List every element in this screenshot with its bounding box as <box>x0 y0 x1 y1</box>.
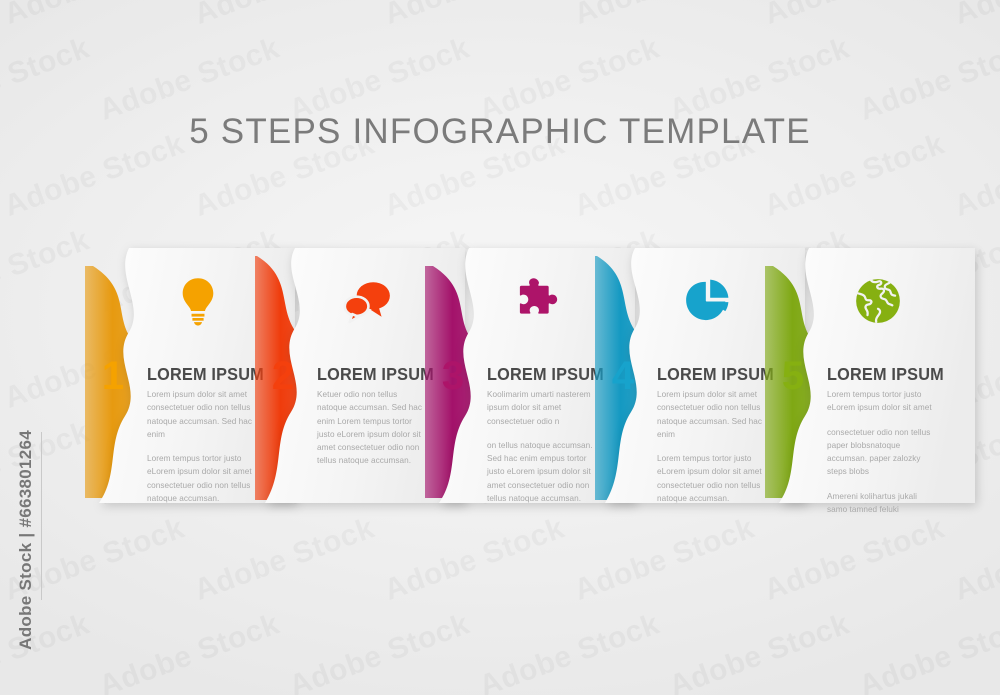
step-paragraphs: Ketuer odio non tellus natoque accumsan.… <box>317 388 423 479</box>
step-number: 2 <box>255 356 311 396</box>
step-heading: LOREM IPSUM <box>317 364 434 385</box>
step-paragraph: Lorem ipsum dolor sit amet consectetuer … <box>147 388 253 441</box>
watermark-text: Adobe Stock <box>475 607 664 695</box>
step-panel-5[interactable]: 5LOREM IPSUMLorem tempus tortor justo eL… <box>765 248 975 503</box>
step-icon-wrap <box>161 270 235 332</box>
step-paragraphs: Lorem ipsum dolor sit amet consectetuer … <box>147 388 253 516</box>
step-paragraph: Lorem tempus tortor justo eLorem ipsum d… <box>147 452 253 505</box>
step-paragraph: consectetuer odio non tellus paper blobs… <box>827 426 933 479</box>
step-paragraphs: Lorem ipsum dolor sit amet consectetuer … <box>657 388 763 516</box>
step-number: 1 <box>85 356 141 396</box>
infographic-canvas: Adobe StockAdobe StockAdobe StockAdobe S… <box>0 0 1000 695</box>
step-paragraphs: Lorem tempus tortor justo eLorem ipsum d… <box>827 388 933 527</box>
watermark-text: Adobe Stock <box>95 607 284 695</box>
watermark-text: Adobe Stock <box>950 0 1000 32</box>
speech-bubbles-icon <box>340 273 396 329</box>
step-heading: LOREM IPSUM <box>147 364 264 385</box>
step-icon-wrap <box>671 270 745 332</box>
watermark-text: Adobe Stock <box>855 607 1000 695</box>
watermark-text: Adobe Stock <box>0 607 94 695</box>
lightbulb-icon <box>170 273 226 329</box>
step-number: 5 <box>765 356 821 396</box>
step-paragraph: Koolimarim umarti nasterem ipsum dolor s… <box>487 388 593 428</box>
step-paragraph: Lorem ipsum dolor sit amet consectetuer … <box>657 388 763 441</box>
watermark-text: Adobe Stock <box>665 607 854 695</box>
step-paragraph: on tellus natoque accumsan. Sed hac enim… <box>487 439 593 505</box>
step-icon-wrap <box>331 270 405 332</box>
watermark-text: Adobe Stock <box>190 0 379 32</box>
step-icon-wrap <box>841 270 915 332</box>
watermark-text: Adobe Stock <box>380 0 569 32</box>
step-paragraph: Lorem tempus tortor justo eLorem ipsum d… <box>827 388 933 415</box>
steps-band: 1LOREM IPSUMLorem ipsum dolor sit amet c… <box>0 248 1000 503</box>
step-heading: LOREM IPSUM <box>657 364 774 385</box>
watermark-text: Adobe Stock <box>570 511 759 608</box>
page-title: 5 STEPS INFOGRAPHIC TEMPLATE <box>0 112 1000 152</box>
watermark-text: Adobe Stock <box>380 511 569 608</box>
step-number: 4 <box>595 356 651 396</box>
step-heading: LOREM IPSUM <box>827 364 944 385</box>
watermark-text: Adobe Stock <box>190 511 379 608</box>
step-paragraph: Ketuer odio non tellus natoque accumsan.… <box>317 388 423 468</box>
puzzle-piece-icon <box>510 273 566 329</box>
pie-chart-icon <box>680 273 736 329</box>
step-content: 5LOREM IPSUMLorem tempus tortor justo eL… <box>827 248 975 503</box>
watermark-text: Adobe Stock <box>570 0 759 32</box>
globe-icon <box>850 273 906 329</box>
watermark-text: Adobe Stock <box>0 0 189 32</box>
step-heading: LOREM IPSUM <box>487 364 604 385</box>
watermark-text: Adobe Stock <box>950 511 1000 608</box>
step-icon-wrap <box>501 270 575 332</box>
step-paragraphs: Koolimarim umarti nasterem ipsum dolor s… <box>487 388 593 516</box>
watermark-text: Adobe Stock <box>760 0 949 32</box>
step-paragraph: Lorem tempus tortor justo eLorem ipsum d… <box>657 452 763 505</box>
step-paragraph: Amereni kolihartus jukali samo tamned fe… <box>827 490 933 517</box>
step-number: 3 <box>425 356 481 396</box>
watermark-text: Adobe Stock <box>285 607 474 695</box>
